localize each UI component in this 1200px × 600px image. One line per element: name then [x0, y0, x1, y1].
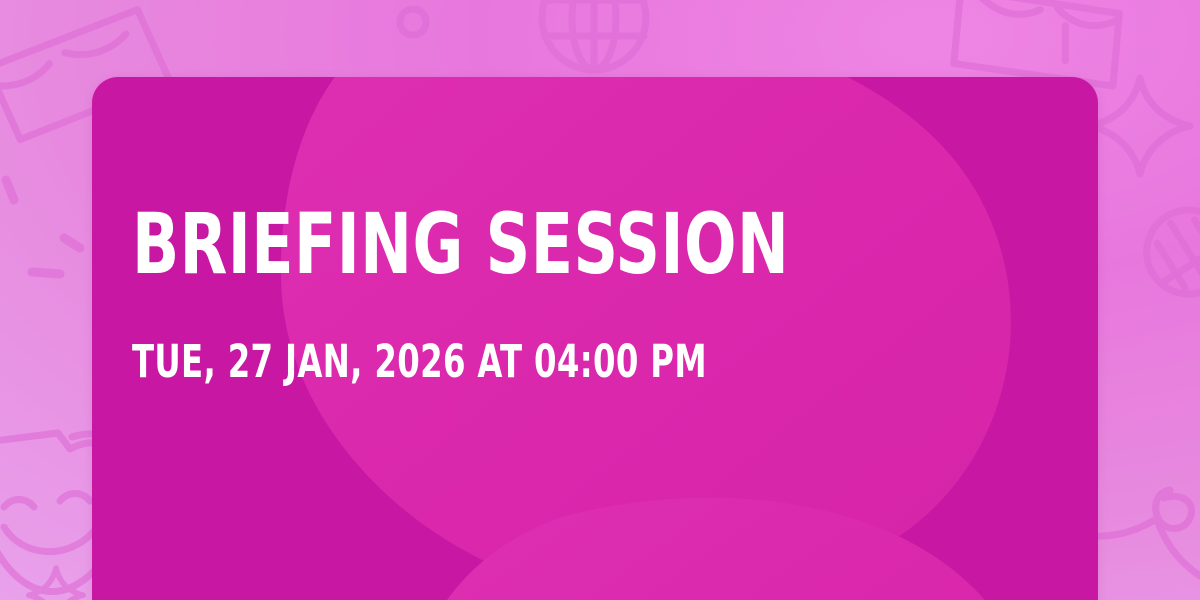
event-title: BRIEFING SESSION: [132, 205, 789, 283]
event-datetime: TUE, 27 JAN, 2026 AT 04:00 PM: [132, 340, 707, 384]
microphone-icon: [1131, 170, 1200, 364]
card-content: BRIEFING SESSION TUE, 27 JAN, 2026 AT 04…: [132, 77, 1058, 600]
event-card: BRIEFING SESSION TUE, 27 JAN, 2026 AT 04…: [92, 77, 1098, 600]
sparkle-icon: [1090, 78, 1190, 174]
event-banner: BRIEFING SESSION TUE, 27 JAN, 2026 AT 04…: [0, 0, 1200, 600]
circle-icon: [400, 9, 426, 35]
globe-icon: [542, 0, 646, 70]
confetti-icon: [6, 180, 80, 274]
